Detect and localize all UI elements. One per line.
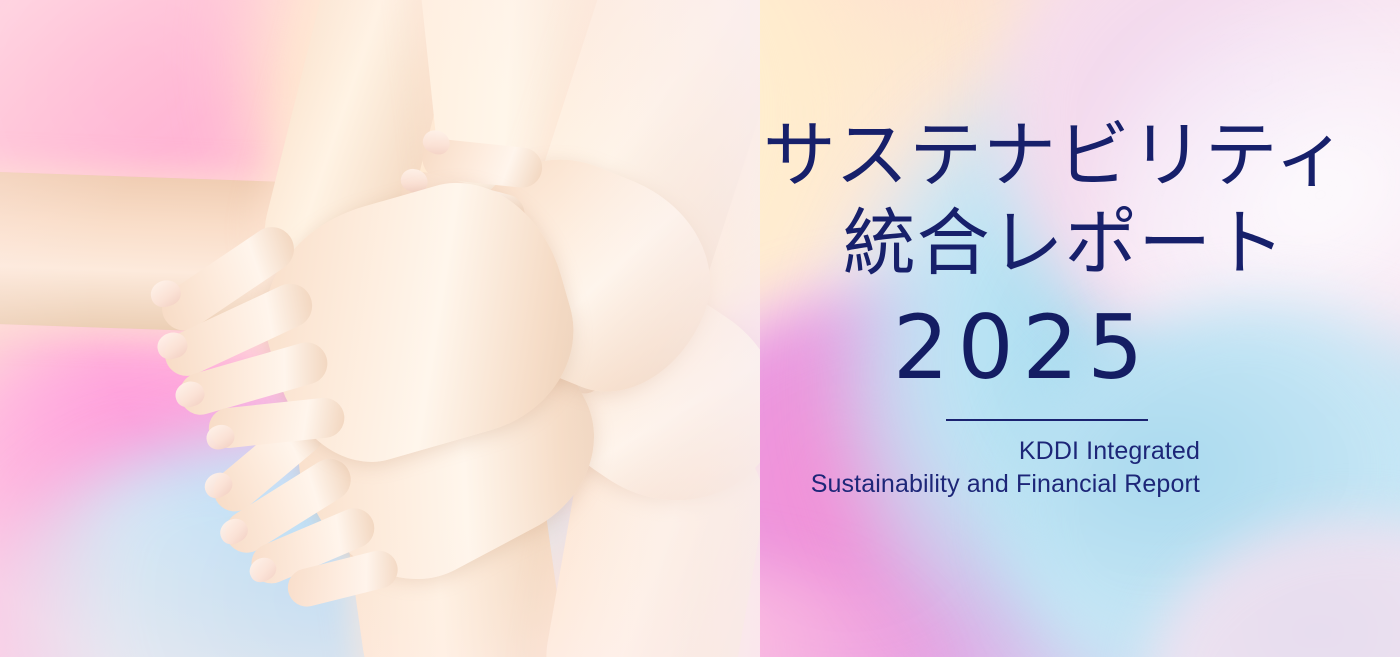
cover-title-block: サステナビリティ 統合レポート 2025 KDDI Integrated Sus… (728, 112, 1348, 501)
title-divider-rule (946, 419, 1148, 421)
report-year: 2025 (728, 303, 1348, 393)
stacked-hands-photo (0, 0, 760, 657)
title-japanese-line-1: サステナビリティ (728, 112, 1348, 200)
subtitle-line-1: KDDI Integrated (728, 435, 1200, 468)
subtitle-line-2: Sustainability and Financial Report (728, 468, 1200, 501)
subtitle-block: KDDI Integrated Sustainability and Finan… (728, 435, 1348, 502)
title-japanese-line-2: 統合レポート (728, 200, 1348, 288)
report-cover-banner: サステナビリティ 統合レポート 2025 KDDI Integrated Sus… (0, 0, 1400, 657)
background-blob-lavender-bottomright (1150, 520, 1400, 657)
